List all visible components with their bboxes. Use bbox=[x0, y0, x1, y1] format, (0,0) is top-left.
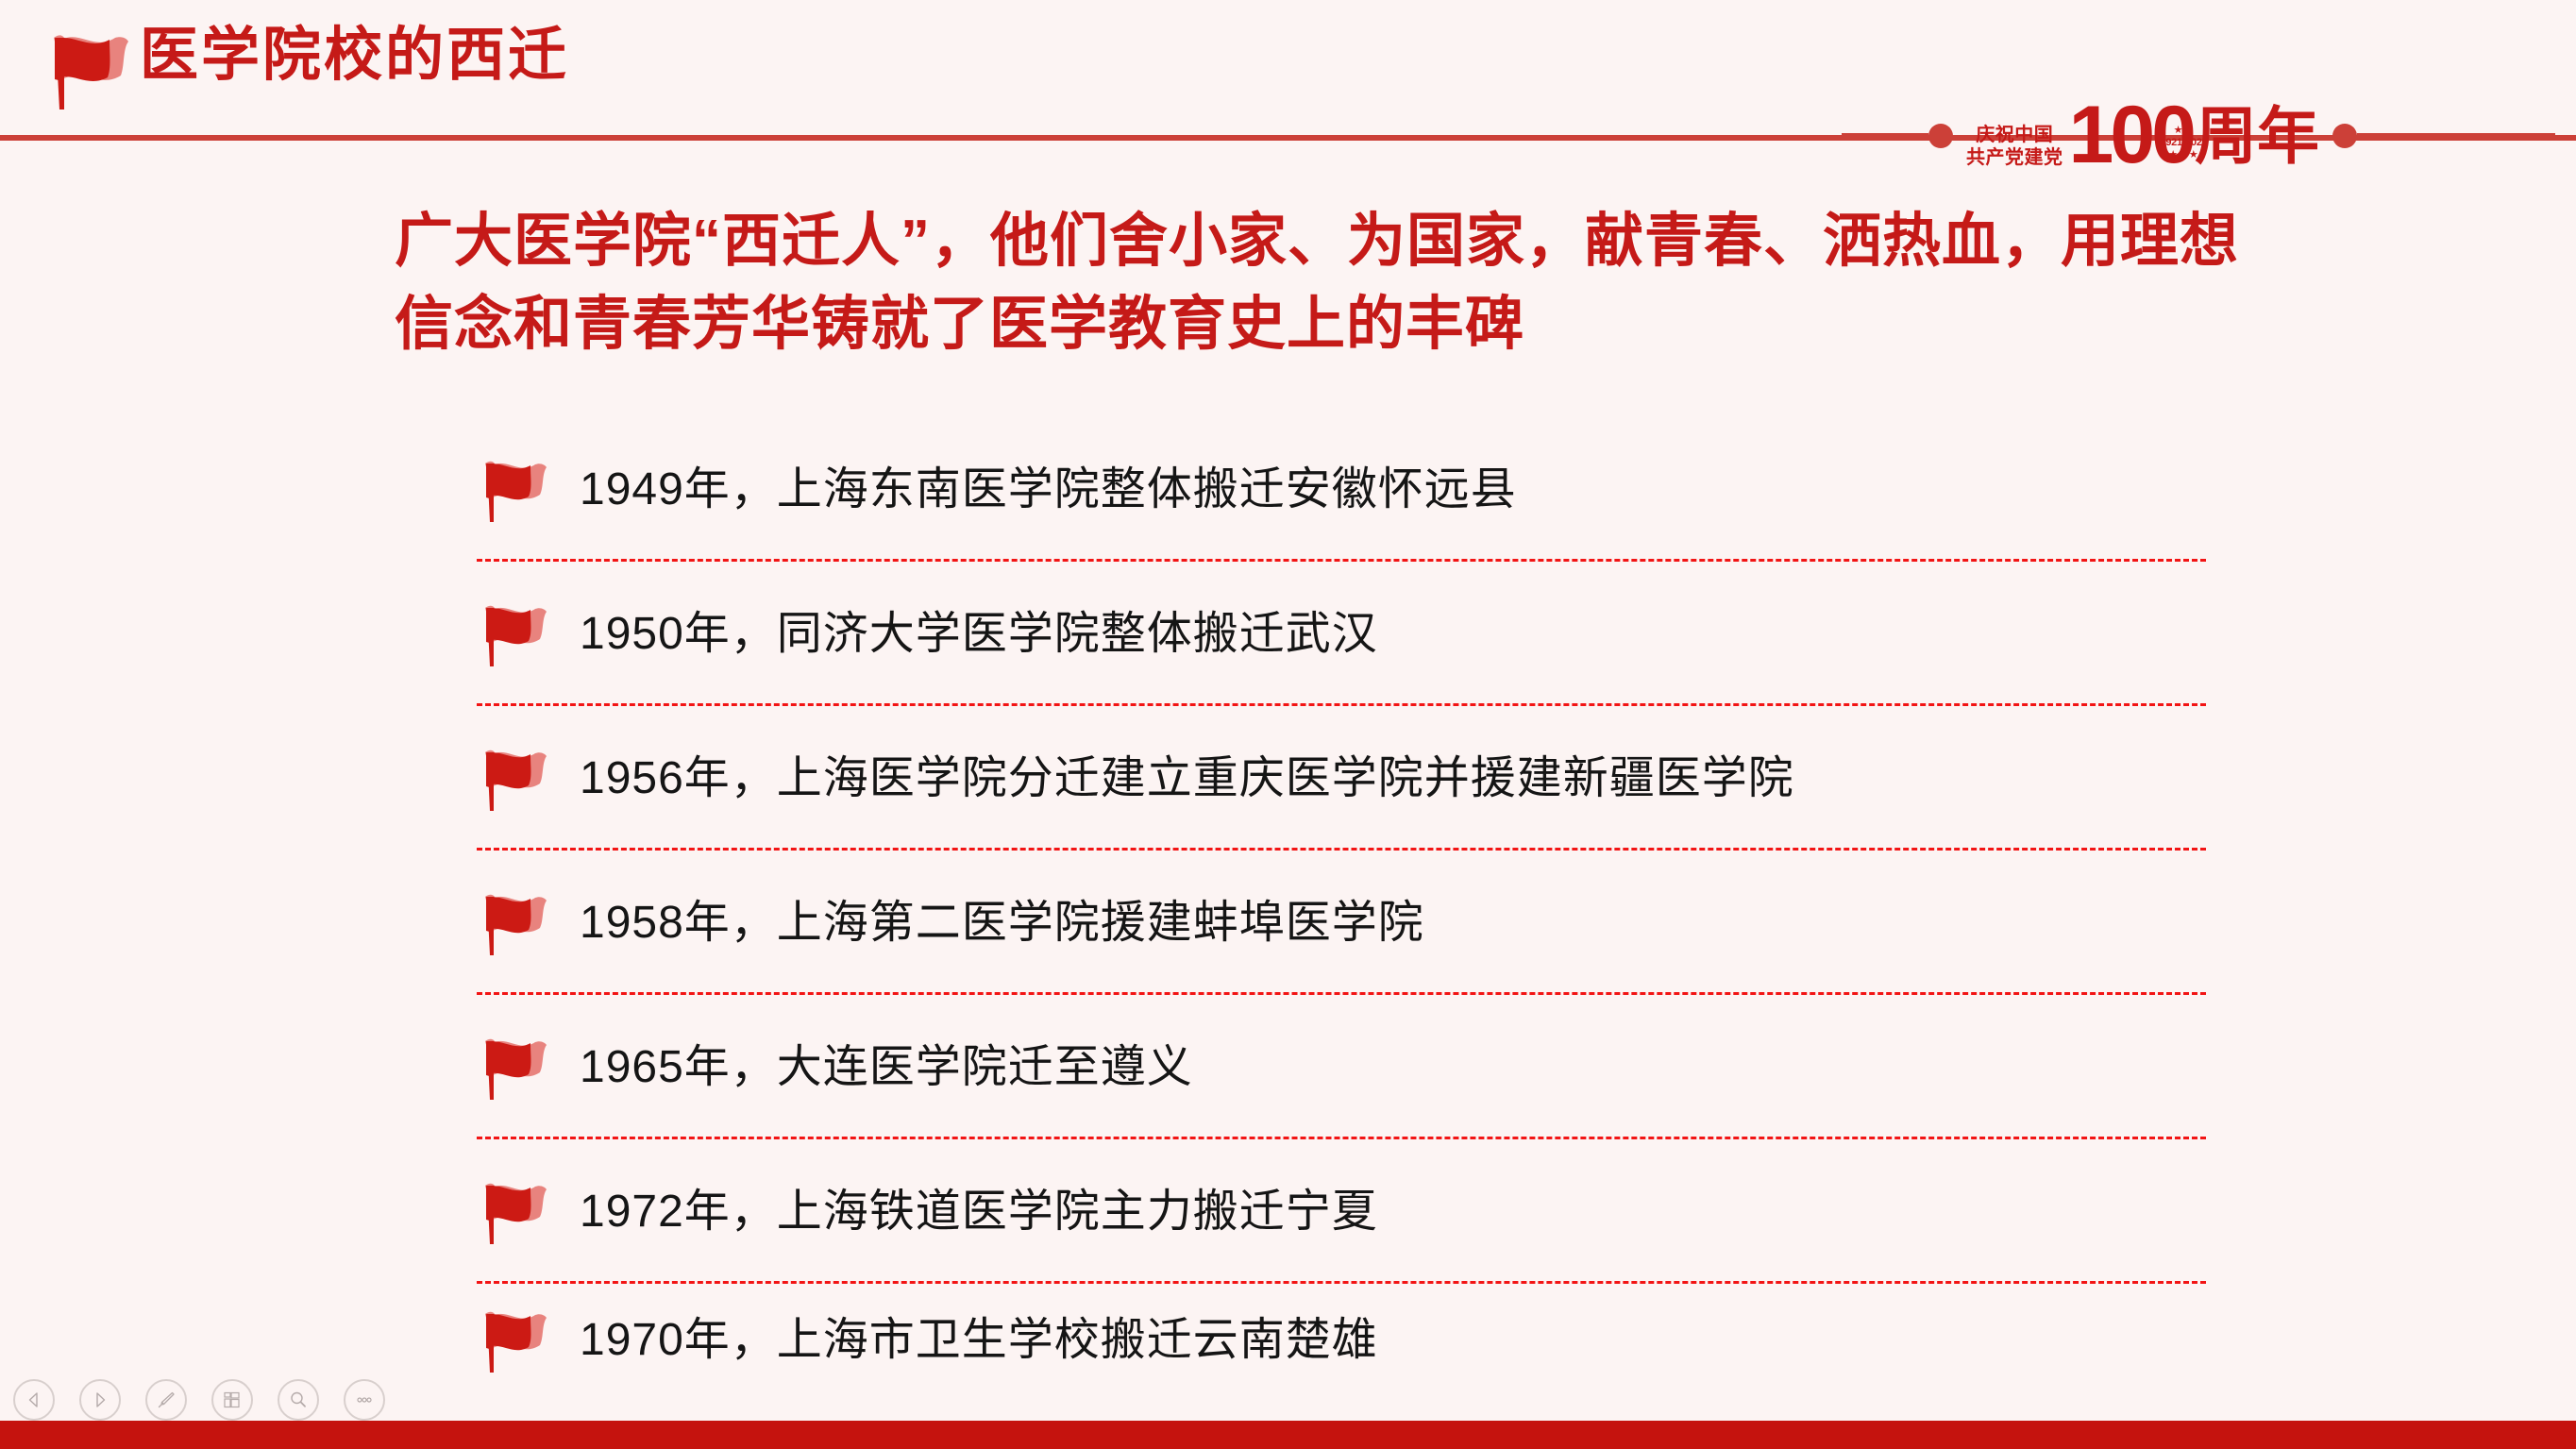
red-flag-icon bbox=[476, 888, 549, 958]
red-flag-icon bbox=[476, 744, 549, 814]
list-item-label: 1965年，大连医学院迁至遵义 bbox=[580, 1040, 1193, 1095]
red-flag-icon bbox=[476, 1033, 549, 1103]
list-item-label: 1970年，上海市卫生学校搬迁云南楚雄 bbox=[580, 1313, 1378, 1368]
ellipsis-icon bbox=[354, 1390, 375, 1410]
emblem-number-group: 100 周年 ★★ 1921-2021 ★★★ bbox=[2069, 97, 2320, 175]
red-flag-icon bbox=[476, 1177, 549, 1247]
emblem-line-left bbox=[1842, 133, 1928, 140]
emblem-subtitle-line1: 庆祝中国 bbox=[1966, 125, 2063, 147]
emblem-subtitle-line2: 共产党建党 bbox=[1966, 147, 2063, 170]
list-item: 1956年，上海医学院分迁建立重庆医学院并援建新疆医学院 bbox=[470, 706, 2207, 851]
zoom-button[interactable] bbox=[278, 1379, 319, 1421]
red-flag-icon bbox=[476, 1306, 549, 1375]
footer-bar bbox=[0, 1421, 2576, 1449]
list-item: 1958年，上海第二医学院援建蚌埠医学院 bbox=[470, 851, 2207, 995]
slide-overview-button[interactable] bbox=[211, 1379, 253, 1421]
triangle-right-icon bbox=[92, 1391, 109, 1408]
list-item: 1972年，上海铁道医学院主力搬迁宁夏 bbox=[470, 1139, 2207, 1284]
emblem-number: 100 bbox=[2069, 97, 2194, 175]
pen-icon bbox=[156, 1390, 177, 1410]
list-item: 1949年，上海东南医学院整体搬迁安徽怀远县 bbox=[470, 417, 2207, 562]
red-flag-icon bbox=[42, 26, 132, 113]
list-item-label: 1956年，上海医学院分迁建立重庆医学院并援建新疆医学院 bbox=[580, 751, 1794, 806]
red-flag-icon bbox=[476, 455, 549, 525]
list-item-label: 1972年，上海铁道医学院主力搬迁宁夏 bbox=[580, 1185, 1378, 1239]
emblem-years-label: 周年 bbox=[2195, 107, 2319, 166]
pen-tool-button[interactable] bbox=[145, 1379, 187, 1421]
emblem-core: 庆祝中国 共产党建党 100 周年 ★★ 1921-2021 ★★★ bbox=[1966, 97, 2319, 175]
emblem-line-right bbox=[2357, 133, 2555, 140]
page-title: 医学院校的西迁 bbox=[140, 25, 569, 86]
previous-slide-button[interactable] bbox=[13, 1379, 55, 1421]
emblem-subtitle: 庆祝中国 共产党建党 bbox=[1966, 125, 2063, 169]
list-item: 1965年，大连医学院迁至遵义 bbox=[470, 995, 2207, 1139]
list-item: 1970年，上海市卫生学校搬迁云南楚雄 bbox=[470, 1284, 2207, 1397]
list-item-label: 1958年，上海第二医学院援建蚌埠医学院 bbox=[580, 896, 1424, 951]
slide-headline: 广大医学院“西迁人”，他们舍小家、为国家，献青春、洒热血，用理想信念和青春芳华铸… bbox=[395, 200, 2292, 366]
timeline-list: 1949年，上海东南医学院整体搬迁安徽怀远县 1950年，同济大学医学院整体搬迁… bbox=[470, 417, 2207, 1397]
emblem-dot-left bbox=[1928, 124, 1953, 148]
triangle-left-icon bbox=[25, 1391, 42, 1408]
list-item-label: 1950年，同济大学医学院整体搬迁武汉 bbox=[580, 607, 1378, 662]
red-flag-icon bbox=[476, 599, 549, 669]
magnifier-icon bbox=[288, 1390, 309, 1410]
presentation-toolbar bbox=[13, 1379, 385, 1421]
emblem-dot-right bbox=[2332, 124, 2357, 148]
slide-header: 医学院校的西迁 庆祝中国 共产党建党 100 周年 ★★ 1921-2021 ★… bbox=[0, 0, 2576, 140]
anniversary-emblem: 庆祝中国 共产党建党 100 周年 ★★ 1921-2021 ★★★ bbox=[1842, 91, 2555, 181]
list-item-label: 1949年，上海东南医学院整体搬迁安徽怀远县 bbox=[580, 463, 1517, 517]
list-item: 1950年，同济大学医学院整体搬迁武汉 bbox=[470, 562, 2207, 706]
slides-grid-icon bbox=[222, 1390, 243, 1410]
next-slide-button[interactable] bbox=[79, 1379, 121, 1421]
presentation-slide: 医学院校的西迁 庆祝中国 共产党建党 100 周年 ★★ 1921-2021 ★… bbox=[0, 0, 2576, 1449]
more-options-button[interactable] bbox=[344, 1379, 385, 1421]
